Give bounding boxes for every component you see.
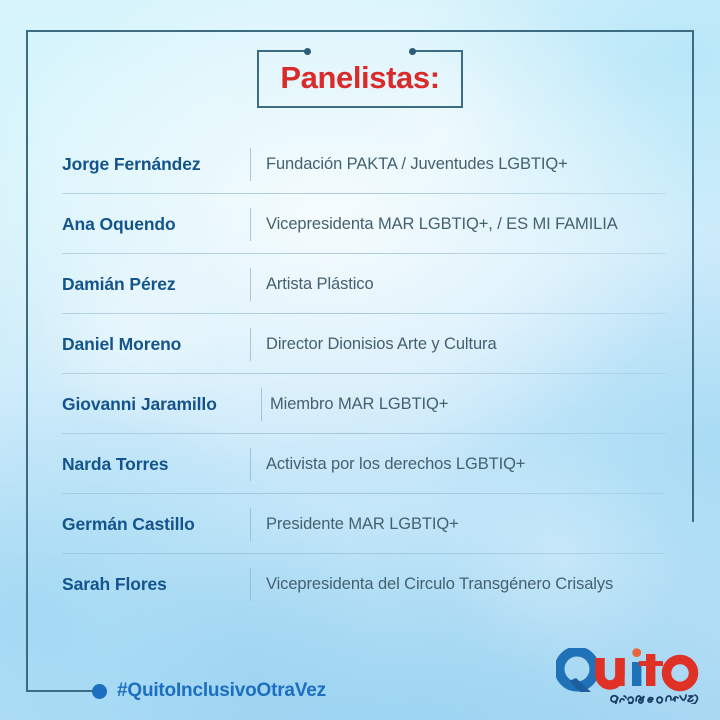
logo-letter-i [632, 648, 641, 686]
title-box-top-left-edge [257, 50, 307, 52]
panelist-divider [250, 328, 251, 361]
panelist-role: Director Dionisios Arte y Cultura [266, 314, 497, 374]
title-box-top-right-edge [413, 50, 463, 52]
bullet-dot-icon [92, 684, 107, 699]
logo-letter-q [560, 652, 595, 693]
panelist-row: Narda Torres Activista por los derechos … [62, 434, 666, 494]
hashtag-group: #QuitoInclusivoOtraVez [92, 675, 326, 707]
frame-left-line [26, 30, 28, 692]
panelist-row: Daniel Moreno Director Dionisios Arte y … [62, 314, 666, 374]
panelist-name: Damián Pérez [62, 254, 244, 314]
hashtag-label: #QuitoInclusivoOtraVez [117, 680, 326, 702]
frame-top-line [26, 30, 694, 32]
poster-canvas: Panelistas: Jorge Fernández Fundación PA… [0, 0, 720, 720]
title-box: Panelistas: [257, 50, 463, 108]
panelist-role: Presidente MAR LGBTIQ+ [266, 494, 459, 554]
panelist-divider [250, 208, 251, 241]
panelist-row: Jorge Fernández Fundación PAKTA / Juvent… [62, 134, 666, 194]
panelist-role: Fundación PAKTA / Juventudes LGBTIQ+ [266, 134, 568, 194]
logo-letter-o [667, 660, 694, 687]
page-title: Panelistas: [257, 56, 463, 100]
logo-letter-u [600, 658, 625, 686]
panelist-divider [250, 268, 251, 301]
panelist-divider [250, 568, 251, 601]
panelist-row: Ana Oquendo Vicepresidenta MAR LGBTIQ+, … [62, 194, 666, 254]
panelist-row: Damián Pérez Artista Plástico [62, 254, 666, 314]
logo-tagline [611, 695, 697, 704]
panelist-row: Sarah Flores Vicepresidenta del Circulo … [62, 554, 666, 614]
quito-logo [556, 648, 700, 704]
panelist-row: Germán Castillo Presidente MAR LGBTIQ+ [62, 494, 666, 554]
frame-bottom-line [26, 690, 100, 692]
title-box-bottom-edge [257, 106, 463, 108]
frame-right-line [692, 30, 694, 522]
panelist-role: Vicepresidenta MAR LGBTIQ+, / ES MI FAMI… [266, 194, 618, 254]
panelist-name: Sarah Flores [62, 554, 244, 614]
panelist-divider [250, 508, 251, 541]
panelist-name: Jorge Fernández [62, 134, 244, 194]
panelist-list: Jorge Fernández Fundación PAKTA / Juvent… [62, 134, 666, 614]
panelist-role: Artista Plástico [266, 254, 374, 314]
title-box-dot-left [304, 48, 311, 55]
panelist-name: Giovanni Jaramillo [62, 374, 258, 434]
panelist-role: Miembro MAR LGBTIQ+ [270, 374, 448, 434]
panelist-name: Ana Oquendo [62, 194, 244, 254]
logo-letter-t [639, 654, 663, 686]
panelist-divider [250, 448, 251, 481]
panelist-name: Daniel Moreno [62, 314, 244, 374]
panelist-name: Narda Torres [62, 434, 244, 494]
panelist-divider [261, 388, 262, 421]
panelist-role: Vicepresidenta del Circulo Transgénero C… [266, 554, 613, 614]
title-box-dot-right [409, 48, 416, 55]
panelist-name: Germán Castillo [62, 494, 244, 554]
panelist-divider [250, 148, 251, 181]
panelist-role: Activista por los derechos LGBTIQ+ [266, 434, 525, 494]
panelist-row: Giovanni Jaramillo Miembro MAR LGBTIQ+ [62, 374, 666, 434]
